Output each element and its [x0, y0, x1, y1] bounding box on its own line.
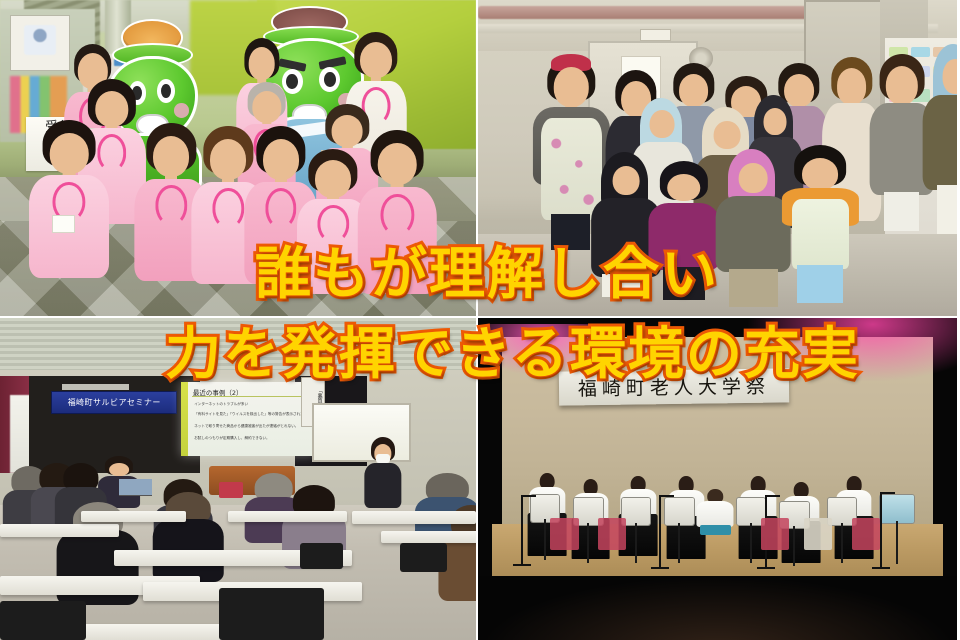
slide-bullet: お試しのつもりが定期購入し、解約できない。 — [194, 436, 269, 440]
desk — [352, 511, 476, 524]
collage-canvas: 受付 — [0, 0, 960, 640]
stage-chair — [550, 518, 579, 550]
projection-screen: 最近の事例（2） インターネットのトラブルが多い 「有料サイトを見た」「ウイルス… — [181, 382, 314, 456]
stage-chair — [598, 518, 627, 550]
mascot-left-eye-right — [157, 79, 175, 103]
trousers — [602, 274, 650, 297]
seminar-ceiling — [0, 318, 476, 376]
stage-light-left — [488, 324, 622, 376]
bag — [219, 482, 243, 498]
trousers — [937, 185, 960, 234]
photo-panel-office-group[interactable] — [478, 0, 960, 318]
presenter — [367, 437, 400, 508]
desk — [381, 531, 478, 544]
person-hijab — [718, 149, 790, 307]
wall-placard — [641, 30, 670, 40]
audience-silhouette — [478, 576, 957, 640]
desk — [228, 511, 347, 522]
trousers — [884, 192, 919, 231]
festival-banner: 福崎町老人大学祭 — [559, 368, 789, 405]
person — [33, 120, 104, 278]
trousers — [551, 214, 590, 249]
ceiling-duct — [478, 6, 852, 19]
person — [362, 130, 433, 294]
photo-panel-lobby-group[interactable]: 受付 — [0, 0, 478, 318]
laptop — [119, 479, 152, 495]
photo-panel-seminar[interactable]: 福崎町サルビアセミナー 最近の事例（2） インターネットのトラブルが多い 「有料… — [0, 318, 478, 640]
keyboard-instrument — [700, 525, 731, 535]
person — [650, 161, 717, 300]
wall-poster — [11, 16, 68, 70]
microphone-stand — [650, 495, 670, 569]
chair — [400, 543, 448, 572]
trousers — [663, 267, 706, 300]
person — [300, 149, 367, 294]
person-hijab — [923, 44, 960, 234]
photo-grid: 受付 — [0, 0, 960, 640]
slide-lead: インターネットのトラブルが多い — [194, 402, 248, 406]
slide-rule — [192, 396, 305, 397]
face-mask — [376, 454, 391, 462]
chair — [0, 601, 86, 640]
festival-banner-label: 福崎町老人大学祭 — [559, 368, 789, 405]
slide-bullet: ネットで取り寄せた商品から健康被害が出たが連絡がとれない。 — [194, 424, 298, 428]
chair — [219, 588, 324, 640]
seminar-banner: 福崎町サルビアセミナー — [52, 392, 176, 413]
photo-panel-stage-performance[interactable]: 福崎町老人大学祭 — [478, 318, 960, 640]
trousers — [729, 269, 778, 307]
chair — [300, 543, 343, 569]
slide-accent-bar — [181, 382, 188, 456]
seminar-banner-label: 福崎町サルビアセミナー — [52, 392, 176, 413]
trousers — [797, 265, 843, 303]
desk — [0, 524, 119, 537]
audience-member — [157, 492, 219, 582]
banner-topline — [62, 384, 129, 390]
desk — [81, 511, 186, 522]
apron — [792, 199, 849, 269]
stage-chair — [852, 518, 881, 550]
microphone-stand — [512, 495, 532, 566]
mascot-left-cheek-right — [174, 103, 189, 118]
seated-performer — [694, 489, 737, 553]
stage-chair — [761, 518, 790, 550]
person — [785, 145, 857, 303]
slide-title: 最近の事例（2） — [193, 387, 243, 397]
stage-chair — [804, 518, 833, 550]
